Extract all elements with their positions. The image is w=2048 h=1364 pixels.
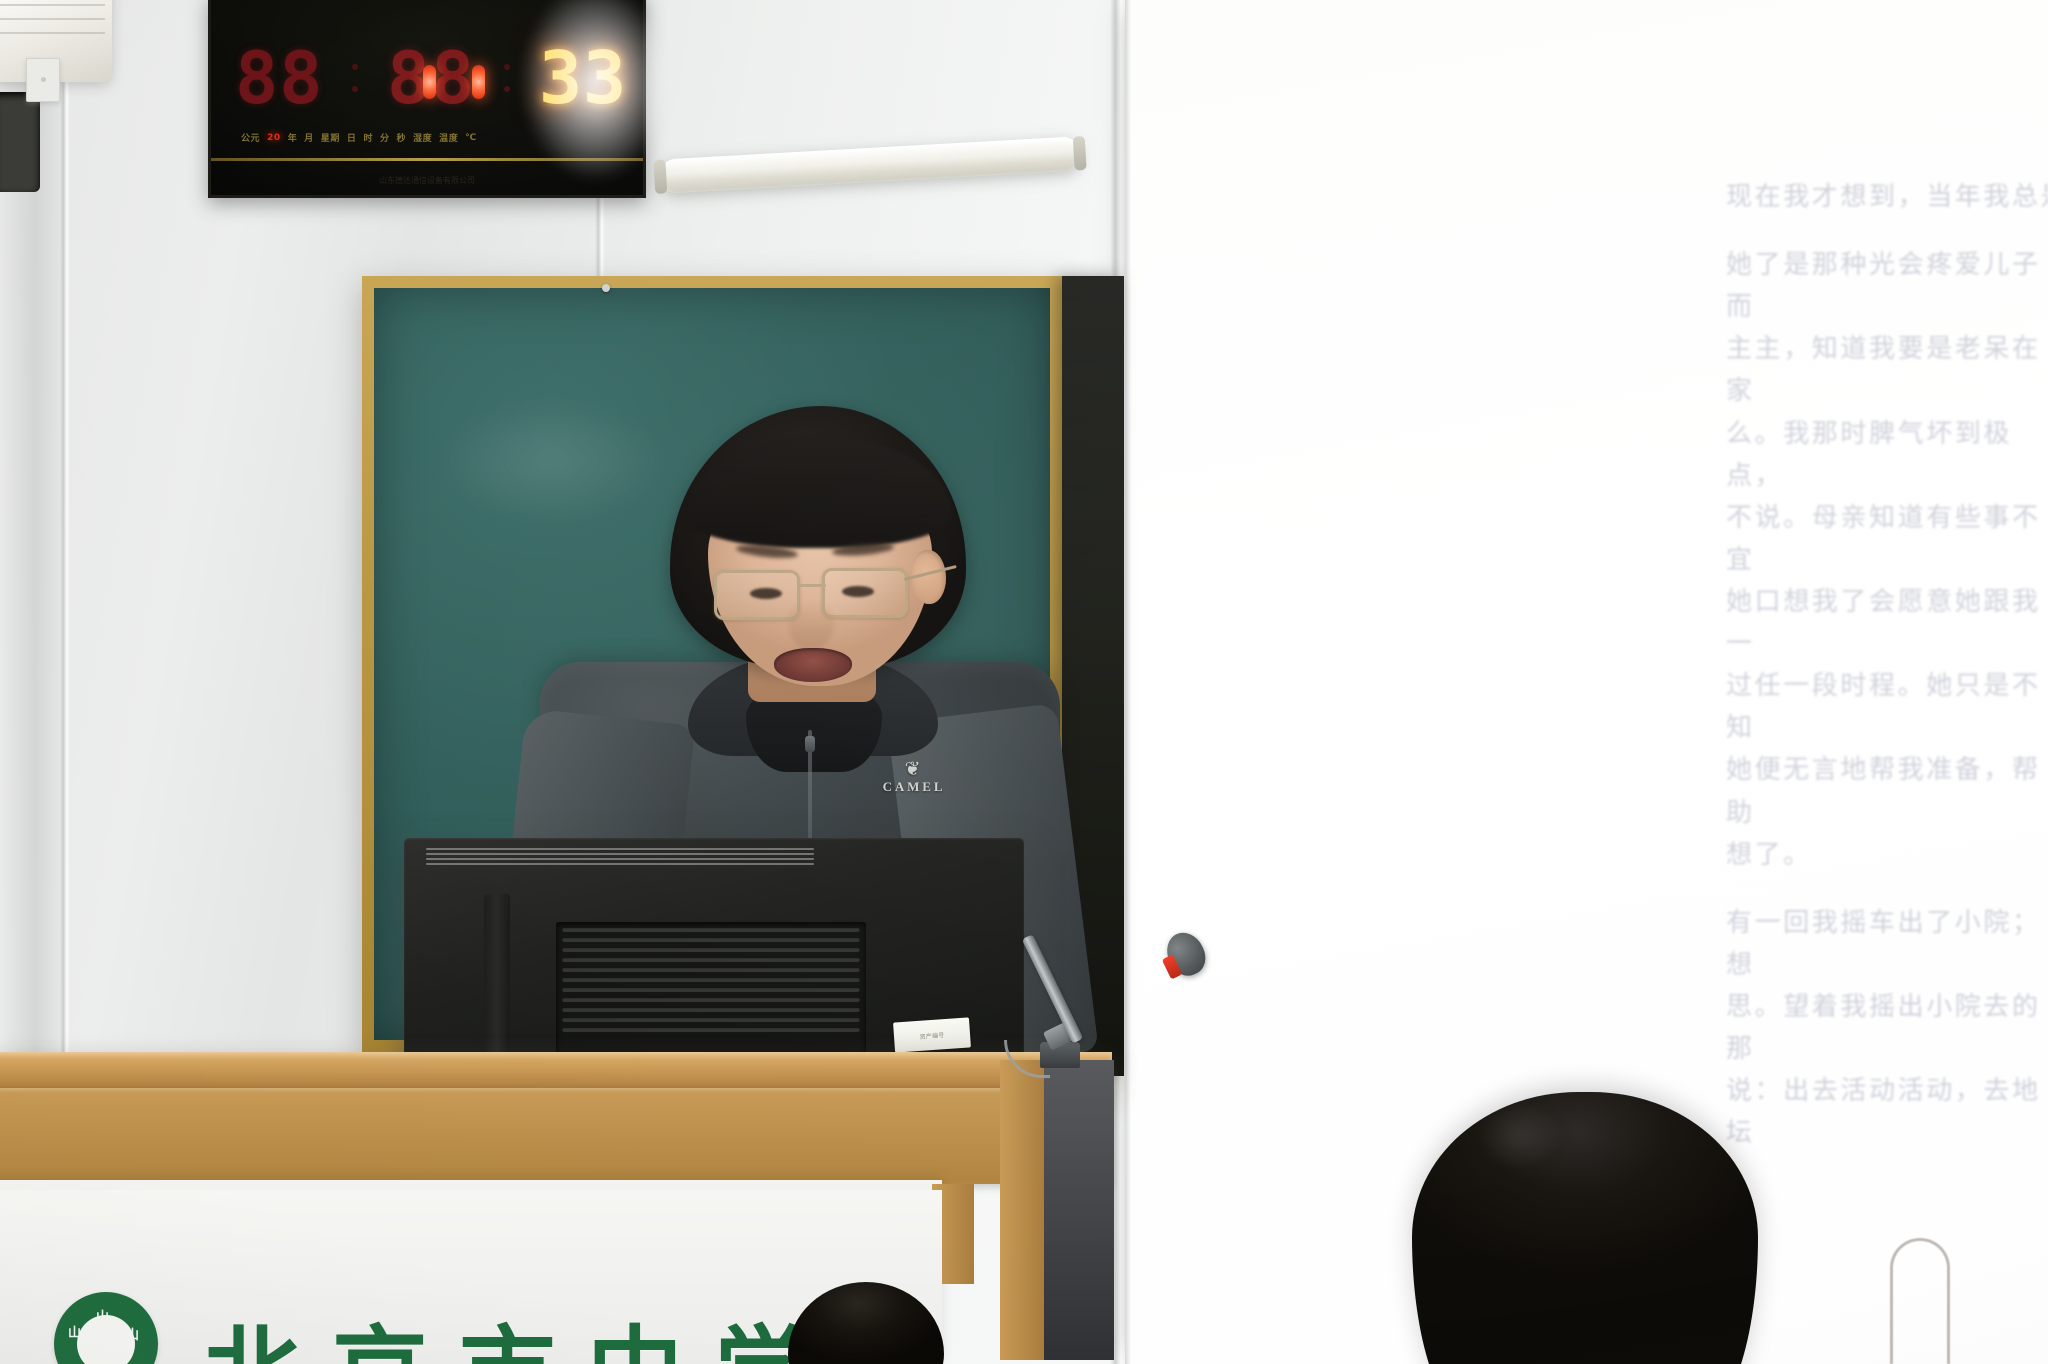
podium-right-dark-panel bbox=[1040, 1060, 1114, 1360]
wall-outlet-plate bbox=[26, 58, 60, 102]
projected-paragraph-2: 她了是那种光会疼爱儿子而 主主，知道我要是老呆在家 么。我那时脾气坏到极点， 不… bbox=[1726, 244, 2048, 876]
glasses-bridge bbox=[798, 584, 826, 587]
led-label-2: 年 bbox=[288, 131, 298, 144]
projected-text-block: 现在我才想到，当年我总是 她了是那种光会疼爱儿子而 主主，知道我要是老呆在家 么… bbox=[1726, 176, 2048, 1156]
led-label-year-value: 20 bbox=[267, 133, 281, 143]
logo-mark-b: 山 bbox=[96, 1306, 109, 1325]
monitor-speaker-grill bbox=[556, 922, 866, 1070]
blackboard-magnet bbox=[602, 284, 610, 292]
presenter-eye-left bbox=[750, 588, 782, 599]
led-lit-bars bbox=[423, 65, 485, 99]
photo-scene: 现在我才想到，当年我总是 她了是那种光会疼爱儿子而 主主，知道我要是老呆在家 么… bbox=[0, 0, 2048, 1364]
led-separator-1 bbox=[352, 64, 358, 92]
podium-desktop bbox=[0, 1052, 1112, 1092]
led-indicator-labels: 公元 20 年 月 星期 日 时 分 秒 湿度 温度 ℃ bbox=[241, 131, 477, 144]
monitor-top-vents bbox=[426, 848, 814, 865]
jacket-brand-logo: ❦ CAMEL bbox=[854, 760, 974, 793]
ceiling-fixture-shadow bbox=[0, 92, 40, 192]
projected-paragraph-3: 有一回我摇车出了小院；想 思。望着我摇出小院去的那 说：出去活动活动，去地坛 是… bbox=[1726, 902, 2048, 1156]
school-logo-icon: 山 山 山 bbox=[54, 1292, 158, 1364]
led-label-10: 温度 bbox=[439, 131, 458, 144]
led-label-7: 分 bbox=[380, 131, 390, 144]
led-label-0: 公元 bbox=[241, 131, 260, 144]
led-label-unit: ℃ bbox=[465, 133, 476, 143]
logo-mark-a: 山 bbox=[68, 1322, 81, 1341]
presenter-nose bbox=[788, 598, 834, 650]
led-digit-group-year: 88 bbox=[235, 42, 323, 114]
projected-paragraph-1: 现在我才想到，当年我总是 bbox=[1726, 176, 2048, 218]
monitor-asset-sticker: 资产编号 bbox=[893, 1017, 971, 1052]
led-label-3: 月 bbox=[304, 131, 314, 144]
camel-icon: ❦ bbox=[854, 760, 974, 779]
led-label-6: 时 bbox=[363, 131, 373, 144]
led-label-9: 湿度 bbox=[413, 131, 432, 144]
audience-head-long-hair bbox=[1412, 1092, 1758, 1364]
led-separator-2 bbox=[504, 64, 510, 92]
led-label-4: 星期 bbox=[321, 131, 340, 144]
presenter-mouth bbox=[774, 648, 852, 682]
podium-monitor[interactable]: 资产编号 bbox=[404, 838, 1024, 1080]
led-label-8: 秒 bbox=[397, 131, 407, 144]
presenter-zipper-pull bbox=[805, 736, 815, 752]
podium-right-wood-edge bbox=[1000, 1060, 1044, 1360]
loose-cable bbox=[1890, 1238, 1950, 1364]
presenter-eye-right bbox=[842, 586, 874, 597]
projection-screen-edge bbox=[1125, 0, 1131, 1364]
camel-wordmark: CAMEL bbox=[854, 780, 974, 793]
led-digits-1: 88 bbox=[235, 42, 323, 114]
podium-front-edge bbox=[0, 1088, 1112, 1184]
logo-mark-c: 山 bbox=[126, 1324, 139, 1343]
led-label-5: 日 bbox=[347, 131, 357, 144]
